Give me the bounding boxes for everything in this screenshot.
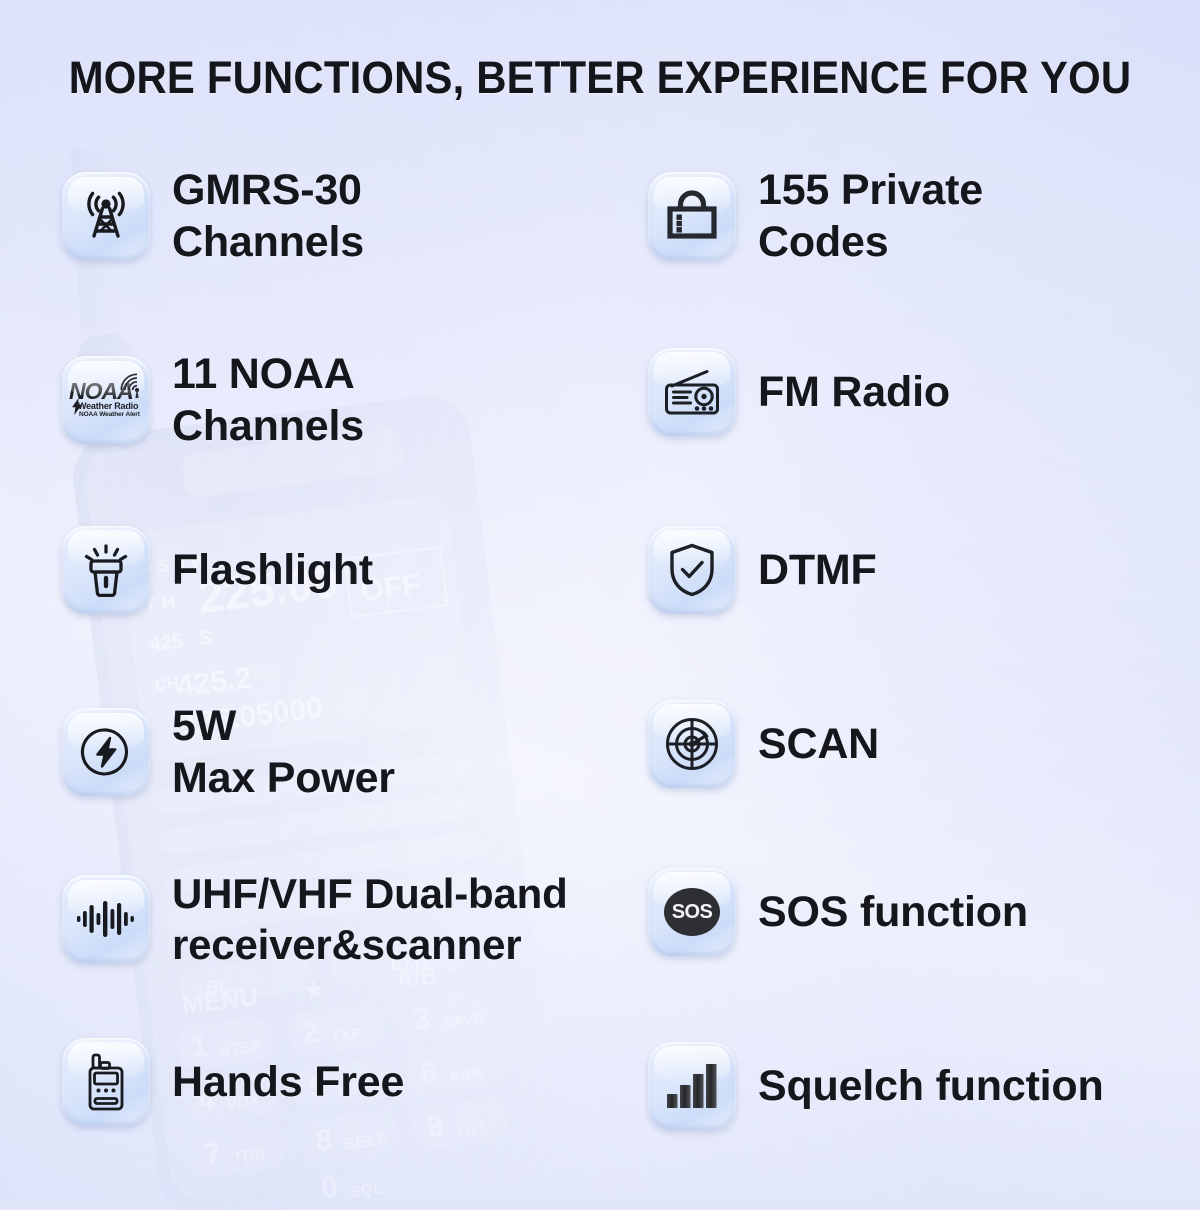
radio-tower-icon [62, 172, 150, 260]
feature-label: SOS function [758, 886, 1028, 938]
feature-label: 11 NOAA Channels [172, 348, 364, 453]
lock-icon [648, 172, 736, 260]
feature-label: GMRS-30 Channels [172, 164, 364, 269]
feature-label: FM Radio [758, 366, 950, 418]
feature-item-private-codes: 155 Private Codes [648, 164, 983, 269]
flashlight-icon [62, 526, 150, 614]
shield-check-icon [648, 526, 736, 614]
walkie-talkie-icon [62, 1038, 150, 1126]
feature-item-fm-radio: FM Radio [648, 348, 950, 436]
noaa-weather-radio-icon: NOAA Weather Radio NOAA Weather Alert [62, 356, 150, 444]
sos-badge-text: SOS [648, 868, 736, 956]
feature-item-hands-free: Hands Free [62, 1038, 404, 1126]
radar-target-icon [648, 700, 736, 788]
feature-label: Hands Free [172, 1056, 404, 1108]
noaa-tagline-2: NOAA Weather Alert [79, 411, 140, 418]
feature-item-scan: SCAN [648, 700, 879, 788]
noaa-logo: NOAA Weather Radio NOAA Weather Alert [69, 374, 143, 426]
feature-label: 5W Max Power [172, 700, 395, 805]
feature-label: Squelch function [758, 1060, 1104, 1112]
feature-label: SCAN [758, 718, 879, 770]
feature-item-noaa-channels: NOAA Weather Radio NOAA Weather Alert 11… [62, 348, 364, 453]
feature-item-max-power: 5W Max Power [62, 700, 395, 805]
signal-bars-icon [648, 1042, 736, 1130]
feature-item-flashlight: Flashlight [62, 526, 373, 614]
feature-label: DTMF [758, 544, 877, 596]
fm-radio-icon [648, 348, 736, 436]
feature-item-squelch: Squelch function [648, 1042, 1104, 1130]
feature-item-sos: SOS SOS function [648, 868, 1028, 956]
feature-item-dual-band: UHF/VHF Dual-band receiver&scanner [62, 868, 568, 970]
feature-label: UHF/VHF Dual-band receiver&scanner [172, 868, 568, 970]
feature-grid: GMRS-30 Channels NOAA Weather Radio NOAA… [0, 0, 1200, 1200]
feature-label: 155 Private Codes [758, 164, 983, 269]
waveform-icon [62, 875, 150, 963]
feature-label: Flashlight [172, 544, 373, 596]
noaa-tagline-1: Weather Radio [78, 401, 138, 411]
feature-item-gmrs-channels: GMRS-30 Channels [62, 164, 364, 269]
feature-item-dtmf: DTMF [648, 526, 877, 614]
sos-icon: SOS [648, 868, 736, 956]
power-bolt-icon [62, 708, 150, 796]
